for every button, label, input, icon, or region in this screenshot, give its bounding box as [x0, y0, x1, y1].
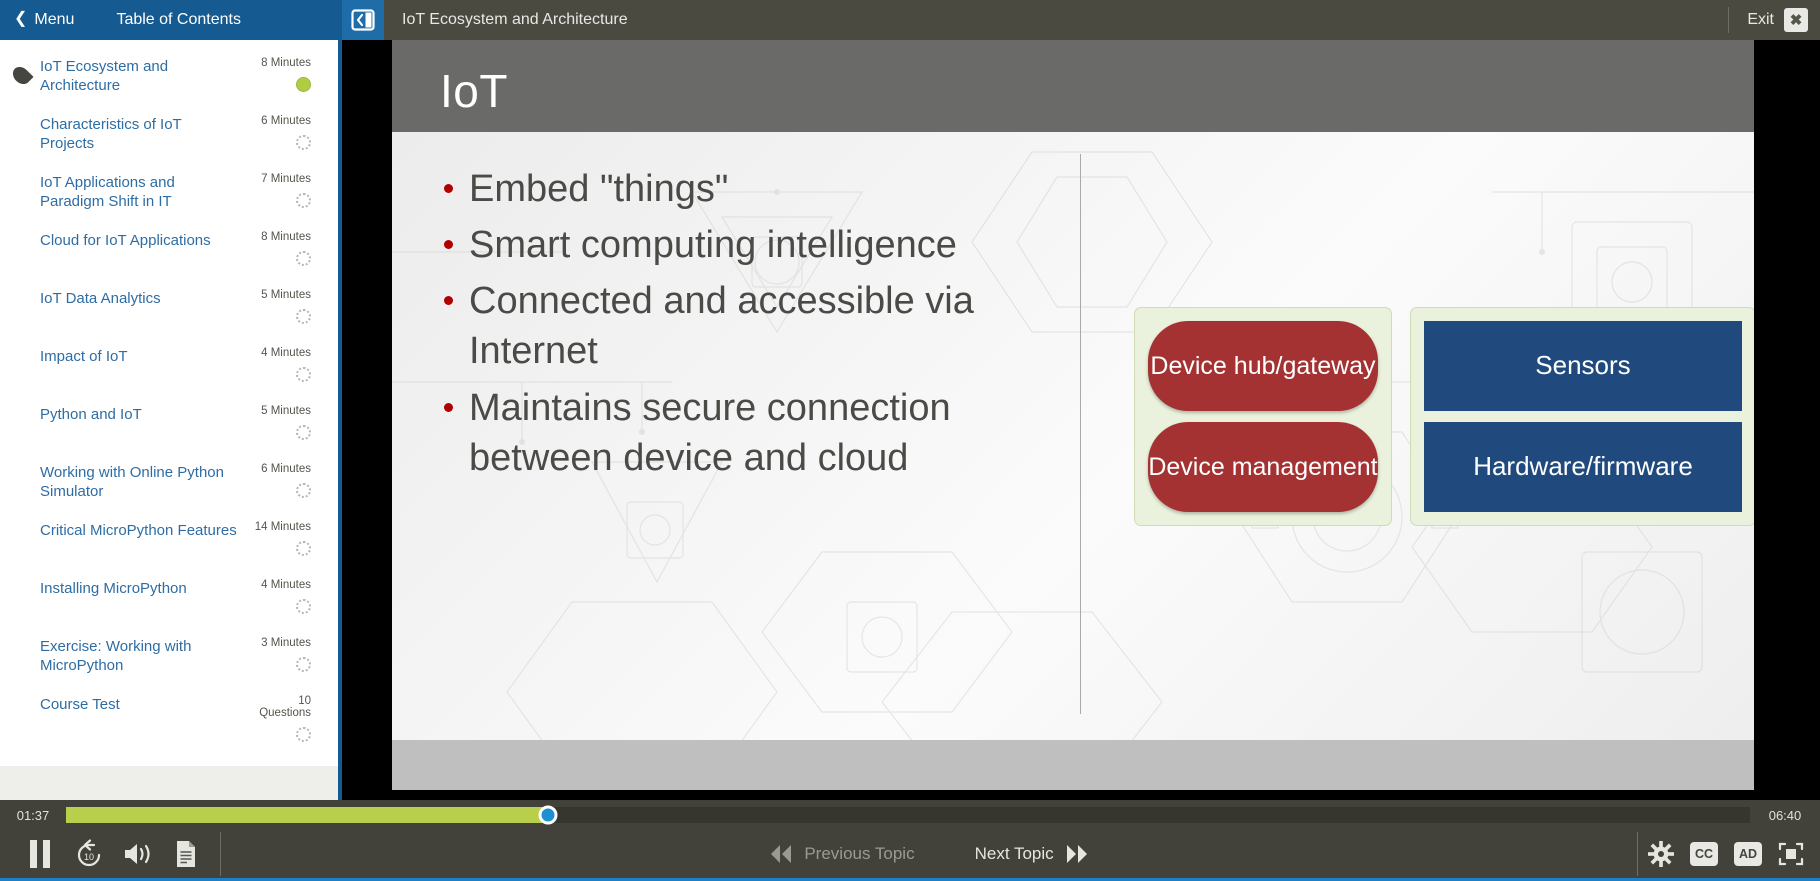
slide-title: IoT [440, 64, 508, 118]
player-tools: CC AD [1648, 841, 1820, 867]
toc-item-status-indicator [296, 483, 311, 498]
toc-item-duration: 5 Minutes [245, 405, 311, 417]
toc-item-status-indicator [296, 135, 311, 150]
toc-item[interactable]: IoT Data Analytics5 Minutes [0, 280, 338, 338]
slide-container: IoT [392, 40, 1754, 790]
seek-progress-fill [66, 807, 548, 823]
toc-item[interactable]: Exercise: Working with MicroPython3 Minu… [0, 628, 338, 686]
fullscreen-button[interactable] [1778, 841, 1804, 867]
slide-bullet: Embed "things" [444, 164, 1044, 214]
toc-item-status-indicator [296, 425, 311, 440]
volume-button[interactable] [114, 830, 162, 878]
seek-slider[interactable] [66, 807, 1750, 823]
slide: IoT [392, 40, 1754, 740]
panel-collapse-icon [351, 9, 375, 31]
button-row: 10 [0, 830, 1820, 878]
total-time-label: 06:40 [1750, 808, 1820, 823]
toc-item-meta: 5 Minutes [245, 405, 333, 445]
pause-button[interactable] [14, 830, 66, 878]
toc-item-duration: 7 Minutes [245, 173, 311, 185]
control-divider-right [1637, 832, 1638, 876]
previous-topic-button[interactable]: Previous Topic [768, 844, 914, 864]
toc-item-duration: 5 Minutes [245, 289, 311, 301]
close-icon[interactable]: ✖ [1784, 8, 1808, 32]
seek-handle[interactable] [538, 806, 557, 825]
toc-item-label: Python and IoT [40, 405, 245, 424]
toc-item-duration: 3 Minutes [245, 637, 311, 649]
current-time-label: 01:37 [0, 808, 66, 823]
menu-button-label: Menu [34, 11, 74, 29]
toc-item-label: Critical MicroPython Features [40, 521, 245, 540]
toc-item-status-indicator [296, 727, 311, 742]
closed-captions-button[interactable]: CC [1690, 842, 1718, 866]
diagram-rect-sensors: Sensors [1424, 321, 1742, 411]
slide-vertical-divider [1080, 154, 1081, 714]
document-icon [173, 839, 199, 869]
architecture-diagram: Device hub/gateway Device management Sen… [1134, 307, 1754, 526]
rewind-10-icon: 10 [75, 839, 105, 869]
toc-item[interactable]: Installing MicroPython4 Minutes [0, 570, 338, 628]
toc-item-meta: 8 Minutes [245, 231, 333, 271]
toc-item-duration: 14 Minutes [245, 521, 311, 533]
bullet-text: Smart computing intelligence [469, 220, 957, 270]
slide-footer-band [392, 740, 1754, 790]
toc-item-meta: 6 Minutes [245, 463, 333, 503]
toc-item-duration: 8 Minutes [245, 57, 311, 69]
settings-button[interactable] [1648, 841, 1674, 867]
toc-item-meta: 4 Minutes [245, 347, 333, 387]
toc-item[interactable]: Characteristics of IoT Projects6 Minutes [0, 106, 338, 164]
rewind-seconds-label: 10 [84, 852, 94, 862]
lesson-header-bar: IoT Ecosystem and Architecture Exit ✖ [342, 0, 1820, 40]
diagram-rect-hardware-firmware: Hardware/firmware [1424, 422, 1742, 512]
toc-item-status-indicator [296, 541, 311, 556]
bullet-list: Embed "things"Smart computing intelligen… [444, 164, 1044, 489]
player-control-bar: 01:37 06:40 10 [0, 800, 1820, 881]
bullet-dot-icon [444, 296, 453, 305]
toc-item-status-indicator [296, 77, 311, 92]
seek-row: 01:37 06:40 [0, 800, 1820, 830]
toc-item[interactable]: Course Test10 Questions [0, 686, 338, 756]
bullet-text: Maintains secure connection between devi… [469, 383, 1044, 483]
toc-item-status-indicator [296, 193, 311, 208]
toc-item-status-indicator [296, 367, 311, 382]
audio-description-button[interactable]: AD [1734, 842, 1762, 866]
diagram-pill-device-hub-gateway: Device hub/gateway [1148, 321, 1378, 411]
toc-item[interactable]: Python and IoT5 Minutes [0, 396, 338, 454]
toc-item-duration: 4 Minutes [245, 347, 311, 359]
diagram-group-right: Sensors Hardware/firmware [1410, 307, 1754, 526]
previous-topic-label: Previous Topic [804, 844, 914, 864]
toc-item-label: Course Test [40, 695, 245, 714]
control-divider [220, 832, 221, 876]
header-divider [1728, 7, 1729, 33]
lesson-title: IoT Ecosystem and Architecture [402, 11, 628, 29]
current-topic-marker-icon [9, 63, 33, 87]
slide-stage: IoT [346, 40, 1820, 881]
toc-item-duration: 8 Minutes [245, 231, 311, 243]
toc-item-meta: 5 Minutes [245, 289, 333, 329]
table-of-contents-sidebar[interactable]: IoT Ecosystem and Architecture8 MinutesC… [0, 40, 342, 881]
slide-bullet: Smart computing intelligence [444, 220, 1044, 270]
toc-item-meta: 8 Minutes [245, 57, 333, 97]
toc-item-duration: 10 Questions [245, 695, 311, 719]
slide-body: Embed "things"Smart computing intelligen… [392, 132, 1754, 740]
slide-bullet: Maintains secure connection between devi… [444, 383, 1044, 483]
bullet-dot-icon [444, 403, 453, 412]
slide-title-band: IoT [392, 40, 1754, 132]
next-topic-button[interactable]: Next Topic [975, 844, 1090, 864]
collapse-panel-button[interactable] [342, 0, 384, 40]
rewind-10-button[interactable]: 10 [66, 830, 114, 878]
toc-item-label: Installing MicroPython [40, 579, 245, 598]
toc-item-label: Cloud for IoT Applications [40, 231, 245, 250]
bullet-text: Embed "things" [469, 164, 728, 214]
fullscreen-icon [1778, 841, 1804, 867]
toc-item-meta: 7 Minutes [245, 173, 333, 213]
toc-item[interactable]: Cloud for IoT Applications8 Minutes [0, 222, 338, 280]
toc-item-label: Impact of IoT [40, 347, 245, 366]
toc-item-duration: 6 Minutes [245, 463, 311, 475]
toc-title: Table of Contents [116, 11, 241, 29]
toc-item-meta: 14 Minutes [245, 521, 333, 561]
toc-item-label: Working with Online Python Simulator [40, 463, 245, 501]
topic-navigation: Previous Topic Next Topic [231, 844, 1627, 864]
volume-icon [122, 840, 154, 868]
toc-item[interactable]: Impact of IoT4 Minutes [0, 338, 338, 396]
toc-item-meta: 3 Minutes [245, 637, 333, 677]
menu-button[interactable]: ❮ Menu [0, 11, 74, 29]
toc-item[interactable]: IoT Ecosystem and Architecture8 Minutes [0, 48, 338, 106]
bullet-dot-icon [444, 240, 453, 249]
bullet-dot-icon [444, 184, 453, 193]
toc-item-duration: 6 Minutes [245, 115, 311, 127]
toc-item-meta: 6 Minutes [245, 115, 333, 155]
toc-item-status-indicator [296, 599, 311, 614]
toc-header-bar: ❮ Menu Table of Contents [0, 0, 342, 40]
toc-item-label: IoT Applications and Paradigm Shift in I… [40, 173, 245, 211]
toc-item-label: IoT Data Analytics [40, 289, 245, 308]
toc-item[interactable]: Working with Online Python Simulator6 Mi… [0, 454, 338, 512]
slide-bullet: Connected and accessible via Internet [444, 276, 1044, 376]
toc-item-label: IoT Ecosystem and Architecture [40, 57, 245, 95]
toc-item-label: Exercise: Working with MicroPython [40, 637, 245, 675]
next-icon [1064, 844, 1090, 864]
next-topic-label: Next Topic [975, 844, 1054, 864]
exit-button[interactable]: Exit [1747, 11, 1774, 29]
toc-item[interactable]: IoT Applications and Paradigm Shift in I… [0, 164, 338, 222]
toc-item-status-indicator [296, 657, 311, 672]
toc-item-status-indicator [296, 251, 311, 266]
transcript-button[interactable] [162, 830, 210, 878]
previous-icon [768, 844, 794, 864]
toc-item[interactable]: Critical MicroPython Features14 Minutes [0, 512, 338, 570]
diagram-pill-device-management: Device management [1148, 422, 1378, 512]
toc-item-duration: 4 Minutes [245, 579, 311, 591]
gear-icon [1648, 841, 1674, 867]
pause-icon [27, 839, 53, 869]
bullet-text: Connected and accessible via Internet [469, 276, 1044, 376]
toc-item-status-indicator [296, 309, 311, 324]
course-player-window: ❮ Menu Table of Contents IoT Ecosystem a… [0, 0, 1820, 881]
toc-item-meta: 10 Questions [245, 695, 333, 747]
toc-item-label: Characteristics of IoT Projects [40, 115, 245, 153]
toc-item-meta: 4 Minutes [245, 579, 333, 619]
diagram-group-left: Device hub/gateway Device management [1134, 307, 1392, 526]
toc-list: IoT Ecosystem and Architecture8 MinutesC… [0, 40, 338, 766]
chevron-left-icon: ❮ [14, 11, 27, 27]
